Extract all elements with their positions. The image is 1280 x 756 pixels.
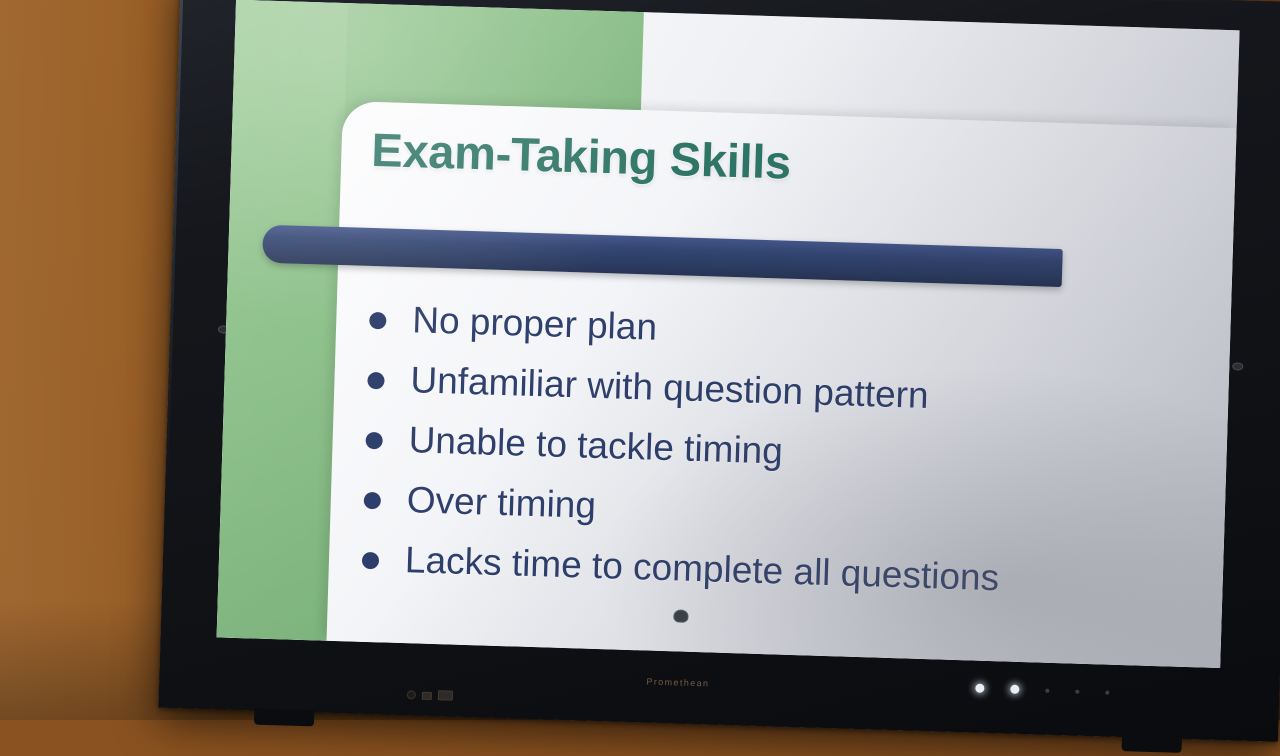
bullet-dot-icon [362,552,380,570]
list-item: Over timing [360,476,1201,548]
ir-sensor-icon [673,609,688,622]
slide-green-side-column [217,0,348,641]
brand-label: Promethean [646,677,709,689]
display-mount-left [254,709,314,727]
display-screen[interactable]: Exam-Taking Skills No proper plan Unfami… [217,0,1240,668]
slide-bullet-list: No proper plan Unfamiliar with question … [358,296,1207,622]
aux-led-2-icon [1075,689,1079,693]
usb-port-a-icon[interactable] [422,692,432,700]
display-mount-right [1122,735,1182,753]
list-item: Unfamiliar with question pattern [364,356,1205,428]
aux-led-3-icon [1105,690,1109,694]
bullet-dot-icon [367,372,385,390]
bullet-text: Unable to tackle timing [408,419,783,471]
status-led-icon[interactable] [1010,685,1019,694]
bullet-text: Lacks time to complete all questions [404,539,999,598]
presentation-slide: Exam-Taking Skills No proper plan Unfami… [217,0,1240,668]
list-item: Lacks time to complete all questions [358,536,1199,608]
bullet-dot-icon [369,312,387,330]
bullet-text: Unfamiliar with question pattern [410,359,929,416]
bullet-text: Over timing [406,479,596,526]
list-item: Unable to tackle timing [362,416,1203,488]
bullet-dot-icon [364,492,382,510]
bullet-dot-icon [365,432,383,450]
usb-port-b-icon[interactable] [438,690,453,700]
front-port-group[interactable] [407,689,453,700]
bullet-text: No proper plan [412,299,658,347]
aux-led-1-icon [1045,688,1049,692]
interactive-display[interactable]: Exam-Taking Skills No proper plan Unfami… [158,0,1280,742]
audio-jack-icon[interactable] [407,690,416,699]
power-led-icon[interactable] [975,684,984,693]
